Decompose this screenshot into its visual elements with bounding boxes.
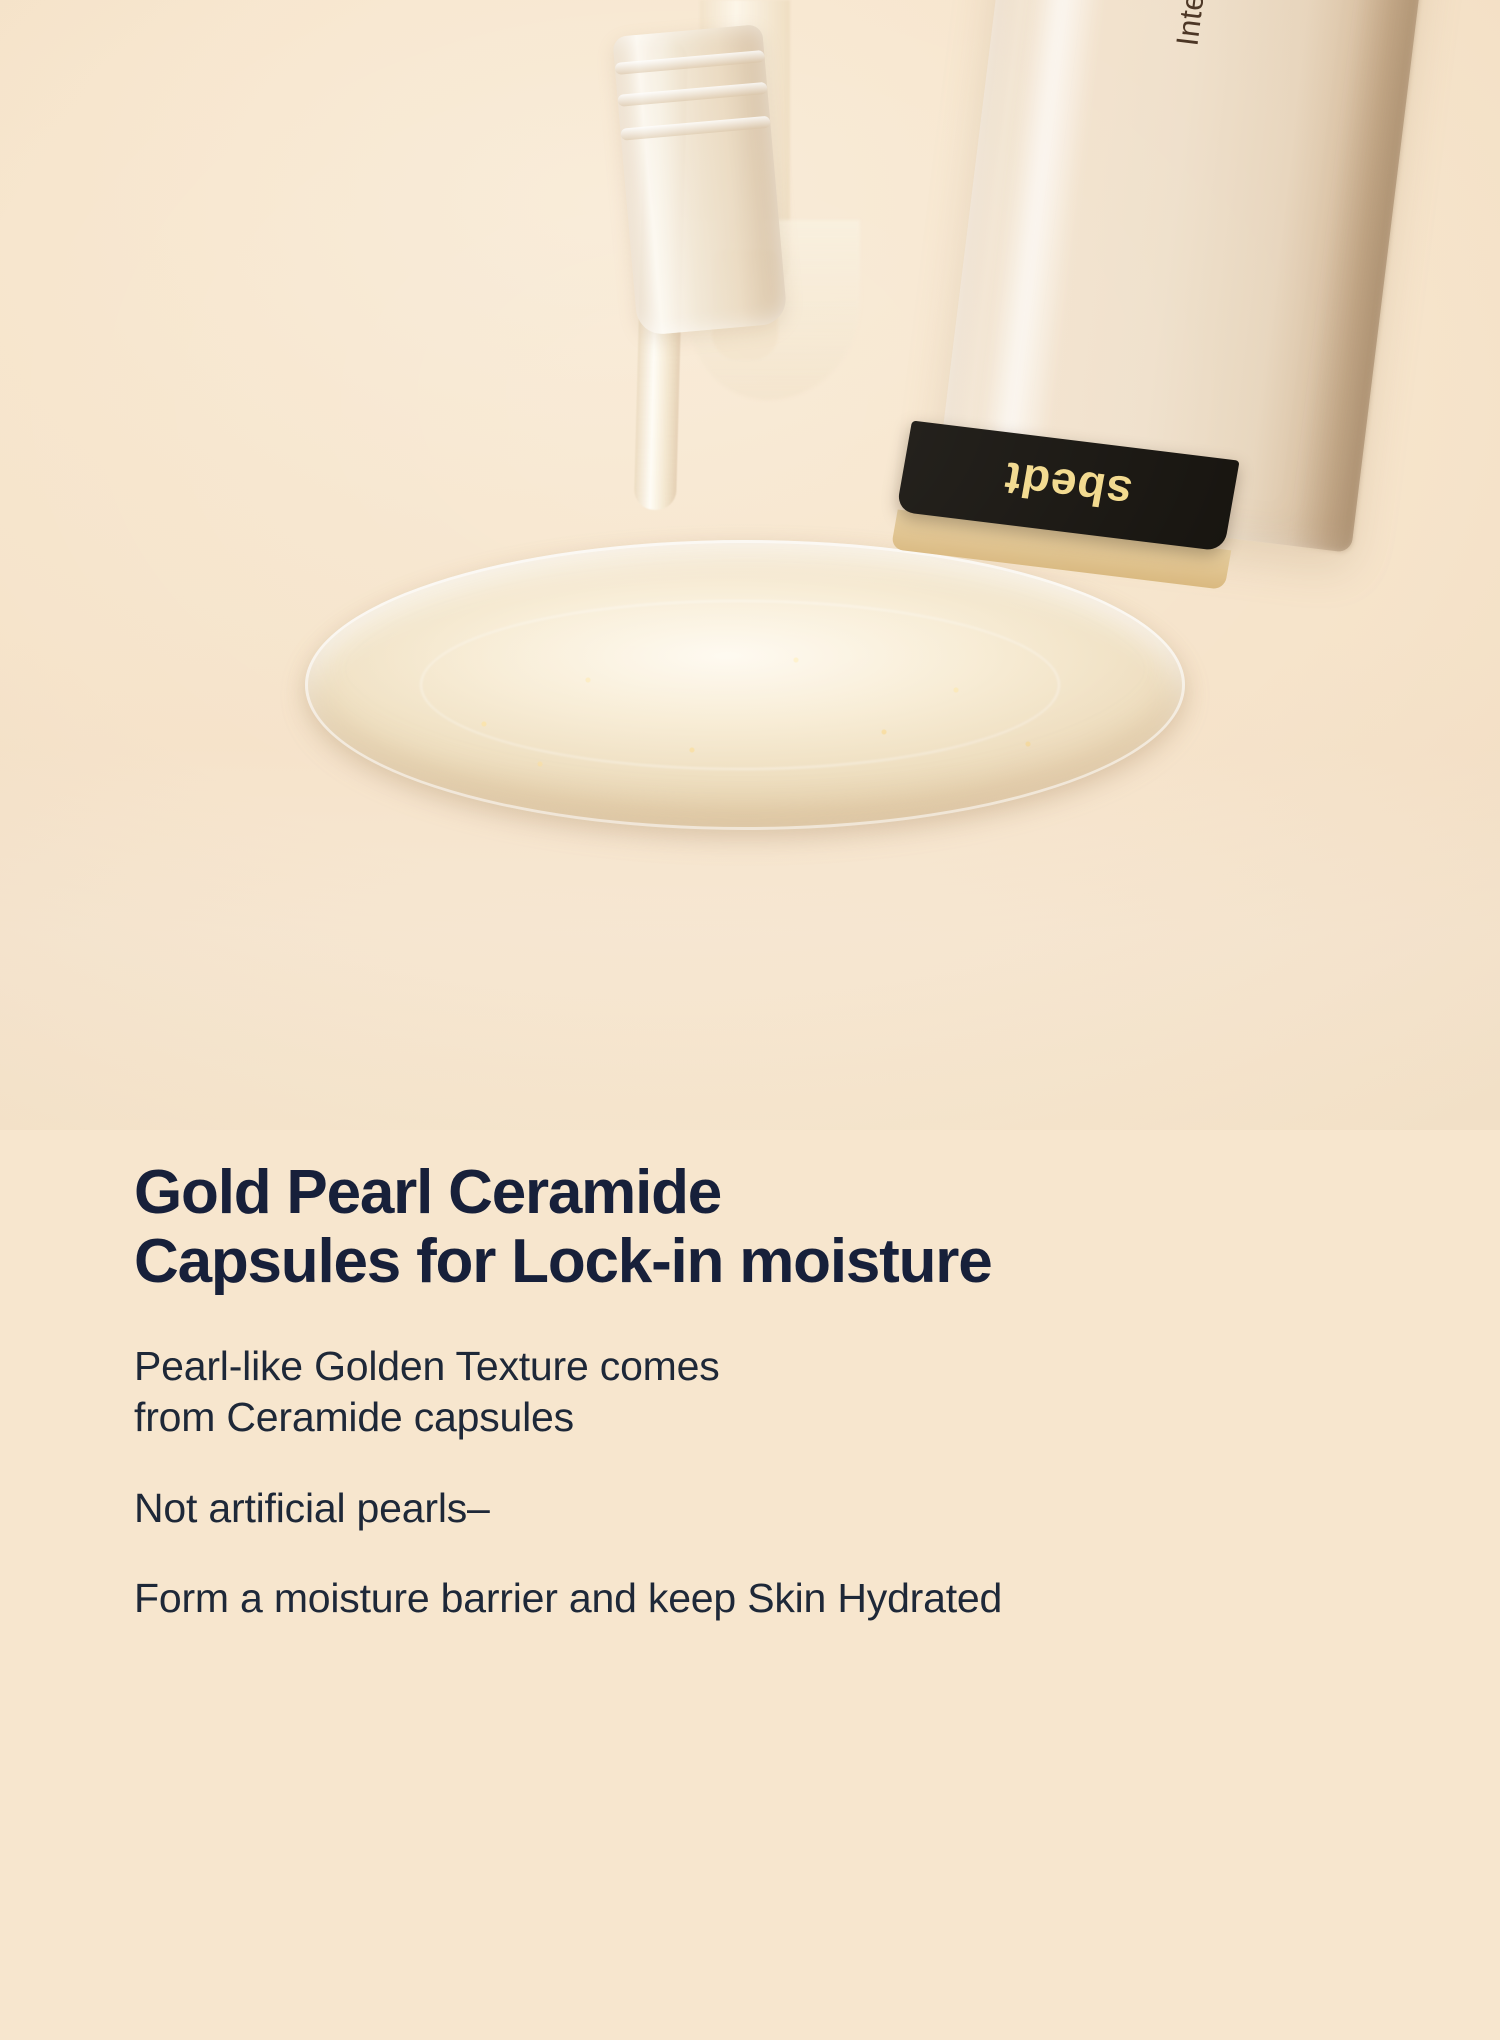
product-pour-photo: Silk Peptide EGF Intensive Smoothing Ton… [0,0,1500,1130]
body-paragraph-1-line-2: from Ceramide capsules [134,1392,1384,1443]
headline-line-1: Gold Pearl Ceramide [134,1158,1384,1227]
body-paragraph-3: Form a moisture barrier and keep Skin Hy… [134,1573,1384,1624]
marketing-copy-block: Gold Pearl Ceramide Capsules for Lock-in… [134,1158,1384,1624]
body-paragraph-3-line-1: Form a moisture barrier and keep Skin Hy… [134,1573,1384,1624]
body-paragraph-1-line-1: Pearl-like Golden Texture comes [134,1341,1384,1392]
photo-vignette [0,0,1500,1130]
page-title: Gold Pearl Ceramide Capsules for Lock-in… [134,1158,1384,1297]
body-paragraph-1: Pearl-like Golden Texture comes from Cer… [134,1341,1384,1443]
headline-line-2: Capsules for Lock-in moisture [134,1227,1384,1296]
body-paragraph-2-line-1: Not artificial pearls– [134,1483,1384,1534]
product-detail-page: Silk Peptide EGF Intensive Smoothing Ton… [0,0,1500,2040]
body-paragraph-2: Not artificial pearls– [134,1483,1384,1534]
